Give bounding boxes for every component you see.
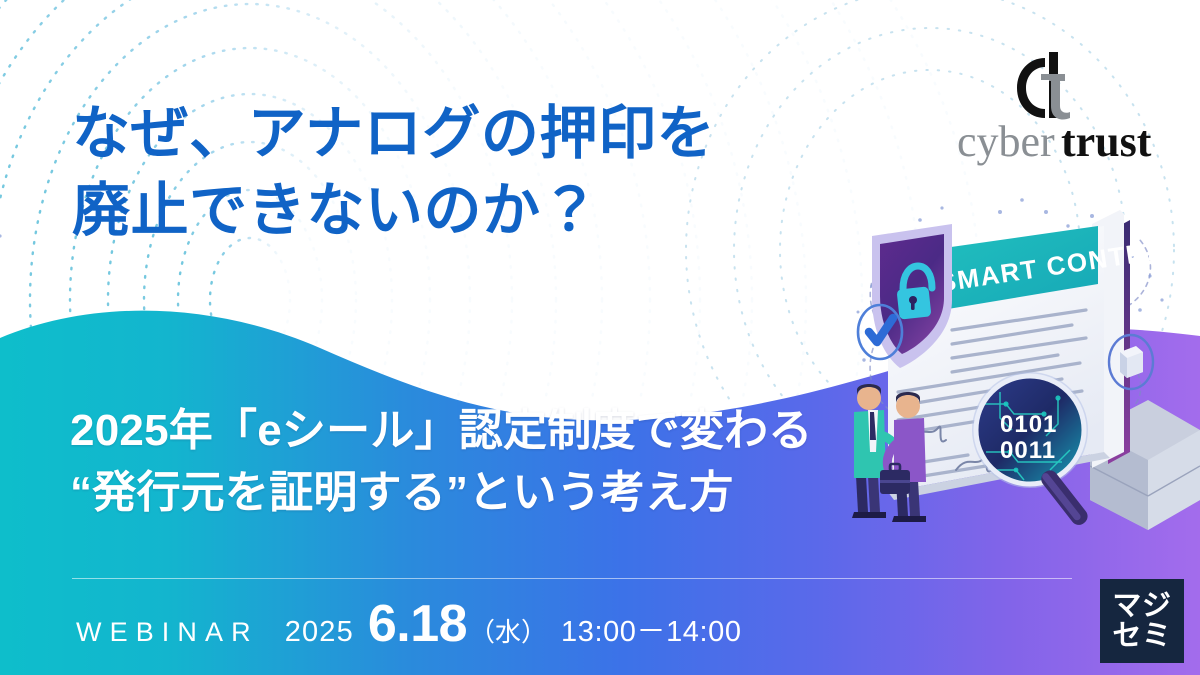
headline-line-2: 廃止できないのか？ <box>72 173 715 250</box>
cybertrust-monogram-icon <box>1017 52 1070 120</box>
headline: なぜ、アナログの押印を 廃止できないのか？ <box>72 96 715 249</box>
binary-line-2: 0011 <box>1000 437 1056 464</box>
binary-line-1: 0101 <box>1000 411 1057 438</box>
webinar-label: WEBINAR <box>76 619 259 646</box>
divider-line <box>72 578 1072 579</box>
headline-line-1: なぜ、アナログの押印を <box>72 96 715 173</box>
event-day: 6.18 <box>368 598 467 650</box>
event-time: 13:00－14:00 <box>561 618 742 647</box>
subtitle-line-2: “発行元を証明する”という考え方 <box>70 462 813 524</box>
cybertrust-wordmark-cyber: cyber <box>957 117 1055 166</box>
majisemi-line-1: マジ <box>1112 591 1171 621</box>
event-date-row: WEBINAR 2025 6.18 （水） 13:00－14:00 <box>76 598 742 650</box>
event-year: 2025 <box>285 618 354 647</box>
subtitle: 2025年「eシール」認定制度で変わる “発行元を証明する”という考え方 <box>70 400 813 525</box>
magnifier-binary-icon: 0101 0011 <box>972 372 1091 528</box>
webinar-banner: なぜ、アナログの押印を 廃止できないのか？ <box>0 0 1200 675</box>
cybertrust-wordmark-trust: trust <box>1061 117 1152 166</box>
majisemi-badge: マジ セミ <box>1100 579 1184 663</box>
event-dayofweek: （水） <box>469 619 547 645</box>
majisemi-line-2: セミ <box>1112 621 1171 651</box>
subtitle-line-1: 2025年「eシール」認定制度で変わる <box>70 400 813 462</box>
cybertrust-logo: cyber trust <box>957 44 1162 166</box>
